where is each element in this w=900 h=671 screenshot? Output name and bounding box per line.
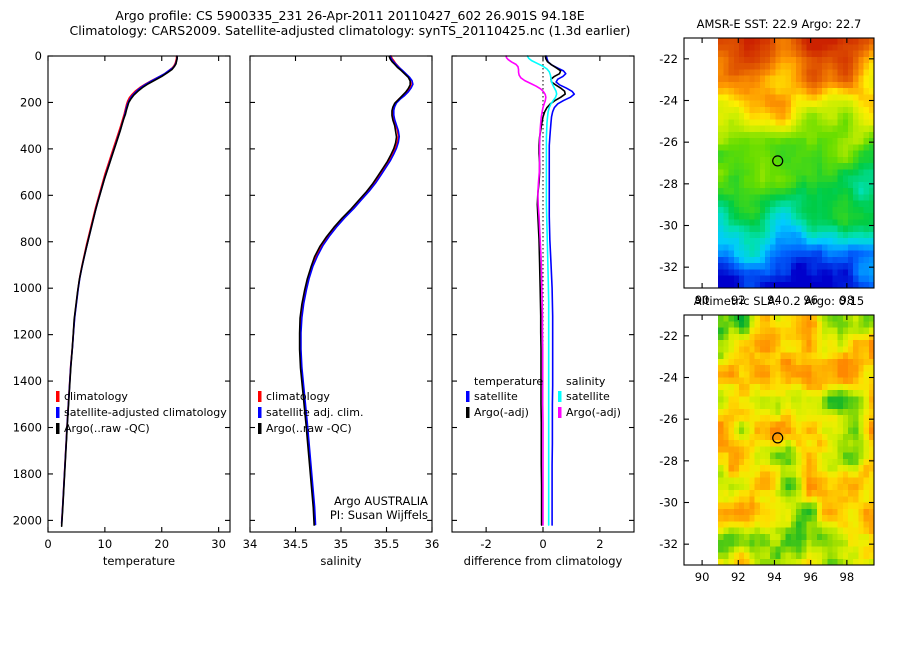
temperature-profile-axes-frame [48, 56, 230, 532]
sla-map-xtick: 94 [767, 570, 782, 584]
sst-map-ytick: -28 [659, 177, 678, 191]
difference-profile-panel: -202difference from climatologytemperatu… [408, 32, 650, 578]
figure-title-line1: Argo profile: CS 5900335_231 26-Apr-2011… [0, 8, 700, 23]
sla-map-ytick: -26 [659, 412, 678, 426]
sla-map-ytick: -24 [659, 371, 678, 385]
temperature-profile-ytick: 200 [20, 95, 42, 109]
series-temperature-satellite [546, 56, 574, 525]
sst-map-panel: AMSR-E SST: 22.9 Argo: 22.79092949698-22… [640, 14, 890, 334]
sst-map-ytick: -30 [659, 219, 678, 233]
series-argo-raw-qc- [300, 56, 411, 525]
sla-map-panel: Altimetric SLA: 0.2 Argo: 0.159092949698… [640, 291, 890, 611]
legend-entry-label: climatology [266, 390, 330, 403]
sst-map-ytick: -32 [659, 260, 678, 274]
difference-profile-xtick: 0 [539, 537, 546, 551]
temperature-profile-ytick: 0 [35, 49, 42, 63]
difference-profile-xtick: -2 [480, 537, 491, 551]
temperature-profile-ytick: 400 [20, 142, 42, 156]
sla-map-raster [718, 315, 875, 566]
difference-profile-xlabel: difference from climatology [464, 554, 623, 568]
salinity-profile-legend: climatologysatellite adj. clim.Argo(..ra… [258, 390, 363, 435]
legend-entry-label: satellite adj. clim. [266, 406, 363, 419]
legend-entry-label: satellite [566, 390, 610, 403]
legend-entry-label: Argo(-adj) [566, 406, 621, 419]
legend-entry-label: satellite [474, 390, 518, 403]
sst-map-title: AMSR-E SST: 22.9 Argo: 22.7 [697, 17, 862, 31]
salinity-profile-xtick: 35.5 [374, 537, 400, 551]
series-satellite-adj-clim- [301, 56, 413, 525]
series-satellite-adjusted-climatology [62, 56, 177, 524]
temperature-profile-ytick: 1400 [13, 374, 42, 388]
legend-entry-label: Argo(-adj) [474, 406, 529, 419]
temperature-profile-ytick: 1000 [13, 281, 42, 295]
sla-map-title: Altimetric SLA: 0.2 Argo: 0.15 [694, 294, 864, 308]
temperature-profile-ytick: 800 [20, 235, 42, 249]
sla-map-ytick: -30 [659, 496, 678, 510]
legend-entry-label: Argo(..raw -QC) [64, 422, 150, 435]
legend-entry-label: climatology [64, 390, 128, 403]
legend-column-header: temperature [474, 375, 543, 388]
temperature-profile-xtick: 20 [154, 537, 169, 551]
temperature-profile-ytick: 1200 [13, 328, 42, 342]
salinity-profile-axes-frame [250, 56, 432, 532]
sst-map-raster [718, 38, 875, 289]
sst-map-ytick: -24 [659, 94, 678, 108]
legend-entry-label: satellite-adjusted climatology [64, 406, 227, 419]
sla-map-ytick: -28 [659, 454, 678, 468]
sla-map-ytick: -22 [659, 329, 678, 343]
legend-column-header: salinity [566, 375, 606, 388]
legend-entry-label: Argo(..raw -QC) [266, 422, 352, 435]
sla-map-ytick: -32 [659, 537, 678, 551]
temperature-profile-ytick: 600 [20, 188, 42, 202]
temperature-profile-xtick: 0 [44, 537, 51, 551]
salinity-profile-xtick: 35 [334, 537, 349, 551]
figure-canvas: Argo profile: CS 5900335_231 26-Apr-2011… [0, 0, 900, 580]
sla-map-xtick: 90 [695, 570, 710, 584]
temperature-profile-xtick: 10 [98, 537, 113, 551]
sst-map-ytick: -26 [659, 135, 678, 149]
temperature-profile-ytick: 1600 [13, 421, 42, 435]
sla-map-xtick: 96 [803, 570, 818, 584]
sla-map-xtick: 98 [840, 570, 855, 584]
salinity-profile-xlabel: salinity [320, 554, 361, 568]
difference-profile-xtick: 2 [596, 537, 603, 551]
sla-map-xtick: 92 [731, 570, 746, 584]
temperature-profile-legend: climatologysatellite-adjusted climatolog… [56, 390, 227, 435]
salinity-profile-xtick: 34 [243, 537, 258, 551]
temperature-profile-ytick: 1800 [13, 467, 42, 481]
series-argo-raw-qc- [62, 56, 177, 526]
temperature-profile-ytick: 2000 [13, 513, 42, 527]
salinity-profile-xtick: 34.5 [283, 537, 309, 551]
temperature-profile-xlabel: temperature [103, 554, 175, 568]
sst-map-ytick: -22 [659, 52, 678, 66]
